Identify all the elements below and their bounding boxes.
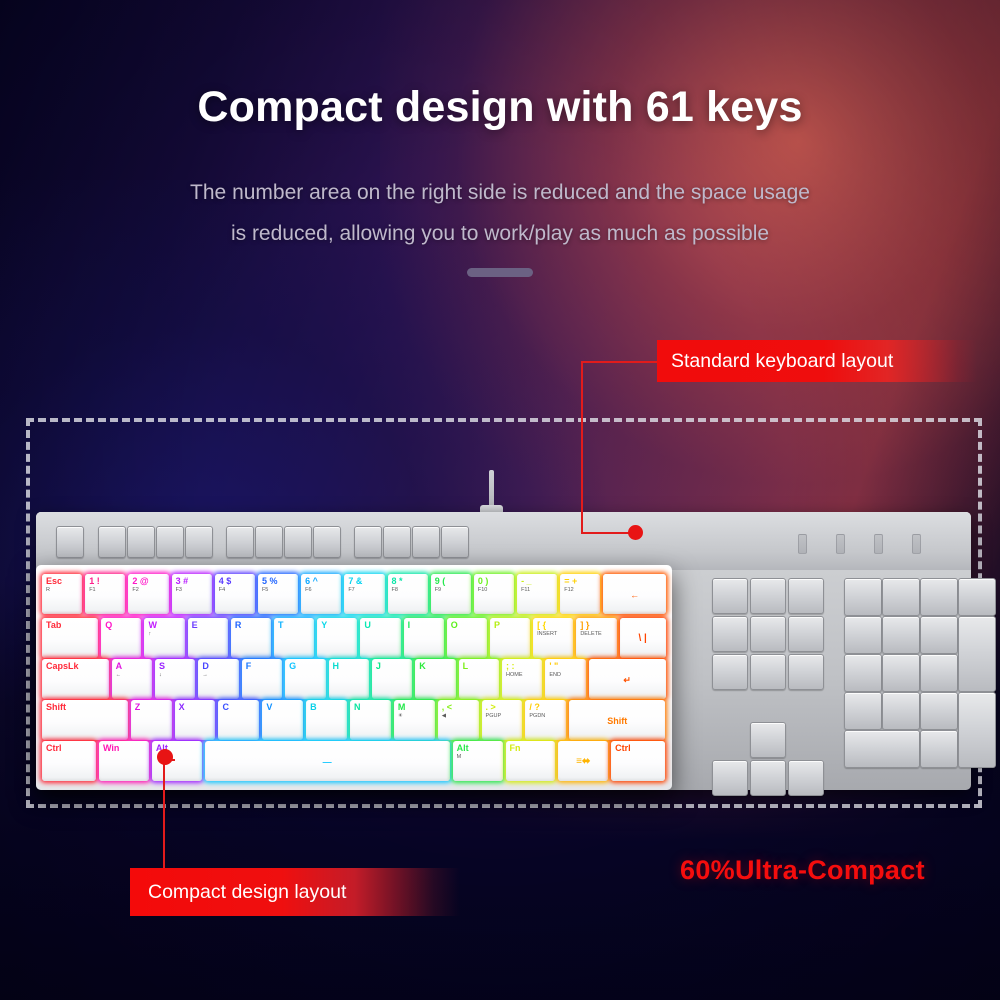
key-legend: ≡⬌ <box>576 757 590 767</box>
key-p[interactable]: P <box>490 618 530 658</box>
key-legend: Q <box>105 620 141 630</box>
key-e[interactable]: E <box>188 618 228 658</box>
top-callout-target-dot <box>628 525 643 540</box>
key-8[interactable]: 8 *F8 <box>388 574 428 614</box>
key-[interactable]: . >PGUP <box>482 700 523 740</box>
key-5[interactable]: 5 %F5 <box>258 574 298 614</box>
fullsize-nav-key <box>788 616 824 652</box>
key-sublegend: ↑ <box>148 631 184 638</box>
key-legend: Fn <box>510 743 556 753</box>
key-legend: , < <box>442 702 479 712</box>
key-legend: C <box>222 702 259 712</box>
key-n[interactable]: N <box>350 700 391 740</box>
key-t[interactable]: T <box>274 618 314 658</box>
key-4[interactable]: 4 $F4 <box>215 574 255 614</box>
key-legend: N <box>354 702 391 712</box>
key-legend: CapsLk <box>46 661 109 671</box>
fullsize-led-indicator <box>912 534 921 554</box>
fullsize-nav-key <box>750 578 786 614</box>
fullsize-function-key <box>226 526 254 558</box>
key-7[interactable]: 7 &F7 <box>344 574 384 614</box>
fullsize-arrow-left-key <box>712 760 748 796</box>
key-sublegend: PGDN <box>529 713 566 720</box>
key-legend: 2 @ <box>132 576 168 586</box>
key-legend: ; : <box>506 661 542 671</box>
key-legend: 0 ) <box>478 576 514 586</box>
key-r[interactable]: R <box>231 618 271 658</box>
key-legend: Esc <box>46 576 82 586</box>
key-legend: X <box>179 702 216 712</box>
key-m[interactable]: M☀ <box>394 700 435 740</box>
header-divider <box>467 268 533 277</box>
key-legend: O <box>451 620 487 630</box>
key-[interactable]: \ | <box>620 618 666 658</box>
key-legend: S <box>159 661 195 671</box>
key-legend: Shift <box>46 702 128 712</box>
key-legend: Alt <box>457 743 503 753</box>
key-[interactable]: ≡⬌ <box>558 741 608 781</box>
fullsize-numpad-key <box>920 654 958 692</box>
key-legend: ] } <box>580 620 616 630</box>
key-shift[interactable]: Shift <box>42 700 128 740</box>
key-legend: V <box>266 702 303 712</box>
key-legend: 6 ^ <box>305 576 341 586</box>
fullsize-numpad-key <box>882 616 920 654</box>
key-legend: \ | <box>638 634 646 644</box>
keyboard-row: CtrlWinAlt—AltMFn≡⬌Ctrl <box>42 741 666 781</box>
key-legend: W <box>148 620 184 630</box>
key-sublegend: HOME <box>506 672 542 679</box>
fullsize-function-key <box>255 526 283 558</box>
key-legend: F <box>246 661 282 671</box>
key-sublegend: R <box>46 587 82 594</box>
key-sublegend: ☀ <box>398 713 435 720</box>
keyboard-row: ShiftZXCVBNM☀, <◀. >PGUP/ ?PGDNShift <box>42 700 666 740</box>
callout-compact-layout: Compact design layout <box>130 868 460 916</box>
fullsize-numpad-plus-key <box>958 616 996 692</box>
page-title: Compact design with 61 keys <box>0 83 1000 132</box>
key-sublegend: F10 <box>478 587 514 594</box>
key-sublegend: F4 <box>219 587 255 594</box>
key-sublegend: PGUP <box>486 713 523 720</box>
subtitle-line-2: is reduced, allowing you to work/play as… <box>0 213 1000 254</box>
fullsize-function-key <box>127 526 155 558</box>
key-sublegend: F6 <box>305 587 341 594</box>
key-6[interactable]: 6 ^F6 <box>301 574 341 614</box>
fullsize-numpad-key <box>844 578 882 616</box>
key-[interactable]: — <box>205 741 450 781</box>
fullsize-function-key <box>441 526 469 558</box>
key-legend: Ctrl <box>615 743 665 753</box>
key-legend: E <box>192 620 228 630</box>
key-s[interactable]: S↓ <box>155 659 195 699</box>
key-sublegend: DELETE <box>580 631 616 638</box>
key-v[interactable]: V <box>262 700 303 740</box>
key-legend: = + <box>564 576 600 586</box>
fullsize-nav-key <box>750 616 786 652</box>
fullsize-numpad-key <box>844 654 882 692</box>
key-legend: T <box>278 620 314 630</box>
fullsize-function-key <box>98 526 126 558</box>
key-d[interactable]: D→ <box>198 659 238 699</box>
key-legend: A <box>116 661 152 671</box>
key-c[interactable]: C <box>218 700 259 740</box>
fullsize-numpad-key <box>882 654 920 692</box>
key-legend: ← <box>630 590 639 600</box>
fullsize-numpad-key <box>920 730 958 768</box>
key-sublegend: END <box>549 672 585 679</box>
top-callout-leader-horizontal <box>581 361 659 363</box>
fullsize-arrow-right-key <box>788 760 824 796</box>
fullsize-led-indicator <box>836 534 845 554</box>
key-2[interactable]: 2 @F2 <box>128 574 168 614</box>
fullsize-led-indicator <box>874 534 883 554</box>
key-fn[interactable]: Fn <box>506 741 556 781</box>
key-legend: 8 * <box>392 576 428 586</box>
subtitle-line-1: The number area on the right side is red… <box>0 172 1000 213</box>
key-x[interactable]: X <box>175 700 216 740</box>
key-h[interactable]: H <box>329 659 369 699</box>
key-sublegend: F8 <box>392 587 428 594</box>
fullsize-function-key <box>354 526 382 558</box>
key-g[interactable]: G <box>285 659 325 699</box>
fullsize-nav-key <box>750 654 786 690</box>
fullsize-numpad-enter-key <box>958 692 996 768</box>
fullsize-function-key <box>412 526 440 558</box>
key-legend: 1 ! <box>89 576 125 586</box>
key-legend: J <box>376 661 412 671</box>
top-callout-leader-vertical <box>581 362 583 534</box>
key-capslk[interactable]: CapsLk <box>42 659 109 699</box>
key-q[interactable]: Q <box>101 618 141 658</box>
key-shift[interactable]: Shift <box>569 700 665 740</box>
fullsize-arrow-up-key <box>750 722 786 758</box>
key-legend: D <box>202 661 238 671</box>
key-z[interactable]: Z <box>131 700 172 740</box>
key-legend: 5 % <box>262 576 298 586</box>
key-legend: L <box>463 661 499 671</box>
key-legend: P <box>494 620 530 630</box>
bottom-callout-target-dot <box>157 749 173 765</box>
key-legend: / ? <box>529 702 566 712</box>
keyboard-row: CapsLkA←S↓D→FGHJKL; :HOME' "END↵ <box>42 659 666 699</box>
key-legend: 7 & <box>348 576 384 586</box>
fullsize-function-key <box>156 526 184 558</box>
key-legend: 9 ( <box>435 576 471 586</box>
fullsize-numpad-key <box>920 616 958 654</box>
key-legend: G <box>289 661 325 671</box>
key-9[interactable]: 9 (F9 <box>431 574 471 614</box>
fullsize-function-key <box>313 526 341 558</box>
fullsize-nav-key <box>788 578 824 614</box>
fullsize-function-key <box>185 526 213 558</box>
key-legend: Tab <box>46 620 98 630</box>
key-legend: B <box>310 702 347 712</box>
key-sublegend: ◀ <box>442 713 479 720</box>
key-l[interactable]: L <box>459 659 499 699</box>
key-0[interactable]: 0 )F10 <box>474 574 514 614</box>
key-tab[interactable]: Tab <box>42 618 98 658</box>
key-legend: Ctrl <box>46 743 96 753</box>
key-[interactable]: ; :HOME <box>502 659 542 699</box>
fullsize-esc-key <box>56 526 84 558</box>
key-legend: 3 # <box>176 576 212 586</box>
key-sublegend: ↓ <box>159 672 195 679</box>
key-b[interactable]: B <box>306 700 347 740</box>
key-k[interactable]: K <box>415 659 455 699</box>
key-[interactable]: [ {INSERT <box>533 618 573 658</box>
key-legend: U <box>364 620 400 630</box>
fullsize-nav-key <box>712 578 748 614</box>
key-legend: K <box>419 661 455 671</box>
key-legend: — <box>323 757 332 767</box>
key-f[interactable]: F <box>242 659 282 699</box>
key-y[interactable]: Y <box>317 618 357 658</box>
key-legend: Win <box>103 743 149 753</box>
key-legend: 4 $ <box>219 576 255 586</box>
key-esc[interactable]: EscR <box>42 574 82 614</box>
fullsize-function-key <box>383 526 411 558</box>
key-legend: [ { <box>537 620 573 630</box>
ultra-compact-badge: 60%Ultra-Compact <box>680 855 925 886</box>
fullsize-numpad-key <box>920 578 958 616</box>
fullsize-numpad-zero-key <box>844 730 920 768</box>
key-o[interactable]: O <box>447 618 487 658</box>
fullsize-led-indicator <box>798 534 807 554</box>
key-[interactable]: ' "END <box>545 659 585 699</box>
keyboard-row: TabQW↑ERTYUIOP[ {INSERT] }DELETE\ | <box>42 618 666 658</box>
callout-standard-layout: Standard keyboard layout <box>657 340 977 382</box>
fullsize-nav-key <box>712 654 748 690</box>
key-legend: H <box>333 661 369 671</box>
key-sublegend: F2 <box>132 587 168 594</box>
key-i[interactable]: I <box>404 618 444 658</box>
keyboard-row: EscR1 !F12 @F23 #F34 $F45 %F56 ^F67 &F78… <box>42 574 666 614</box>
key-[interactable]: ↵ <box>589 659 666 699</box>
fullsize-arrow-down-key <box>750 760 786 796</box>
key-legend: ' " <box>549 661 585 671</box>
fullsize-nav-key <box>712 616 748 652</box>
key-legend: I <box>408 620 444 630</box>
key-legend: - _ <box>521 576 557 586</box>
key-legend: M <box>398 702 435 712</box>
key-ctrl[interactable]: Ctrl <box>42 741 96 781</box>
callout-compact-layout-label: Compact design layout <box>148 881 346 904</box>
key-[interactable]: , <◀ <box>438 700 479 740</box>
fullsize-numpad-key <box>882 692 920 730</box>
key-ctrl[interactable]: Ctrl <box>611 741 665 781</box>
key-sublegend: F5 <box>262 587 298 594</box>
key-a[interactable]: A← <box>112 659 152 699</box>
key-legend: ↵ <box>623 675 631 685</box>
fullsize-function-key <box>284 526 312 558</box>
fullsize-nav-key <box>788 654 824 690</box>
fullsize-numpad-key <box>958 578 996 616</box>
key-sublegend: F9 <box>435 587 471 594</box>
key-sublegend: → <box>202 672 238 679</box>
key-[interactable]: ] }DELETE <box>576 618 616 658</box>
key-3[interactable]: 3 #F3 <box>172 574 212 614</box>
key-legend: . > <box>486 702 523 712</box>
key-legend: R <box>235 620 271 630</box>
page-subtitle: The number area on the right side is red… <box>0 172 1000 254</box>
key-sublegend: F12 <box>564 587 600 594</box>
key-[interactable]: / ?PGDN <box>525 700 566 740</box>
key-alt[interactable]: AltM <box>453 741 503 781</box>
product-infographic: Compact design with 61 keys The number a… <box>0 0 1000 1000</box>
callout-standard-layout-label: Standard keyboard layout <box>671 350 893 373</box>
key-1[interactable]: 1 !F1 <box>85 574 125 614</box>
key-[interactable]: ← <box>603 574 665 614</box>
key-sublegend: ← <box>116 672 152 679</box>
key-legend: Y <box>321 620 357 630</box>
key-sublegend: M <box>457 754 503 761</box>
key-sublegend: F11 <box>521 587 557 594</box>
key-sublegend: F7 <box>348 587 384 594</box>
key-sublegend: F1 <box>89 587 125 594</box>
key-sublegend: F3 <box>176 587 212 594</box>
key-win[interactable]: Win <box>99 741 149 781</box>
key-u[interactable]: U <box>360 618 400 658</box>
fullsize-numpad-key <box>844 616 882 654</box>
fullsize-numpad-key <box>844 692 882 730</box>
fullsize-numpad-key <box>920 692 958 730</box>
key-legend: Z <box>135 702 172 712</box>
key-sublegend: INSERT <box>537 631 573 638</box>
fullsize-numpad-key <box>882 578 920 616</box>
key-[interactable]: = +F12 <box>560 574 600 614</box>
compact-60-keyboard: EscR1 !F12 @F23 #F34 $F45 %F56 ^F67 &F78… <box>36 565 672 790</box>
key-[interactable]: - _F11 <box>517 574 557 614</box>
key-w[interactable]: W↑ <box>144 618 184 658</box>
key-legend: Shift <box>607 716 627 726</box>
key-j[interactable]: J <box>372 659 412 699</box>
